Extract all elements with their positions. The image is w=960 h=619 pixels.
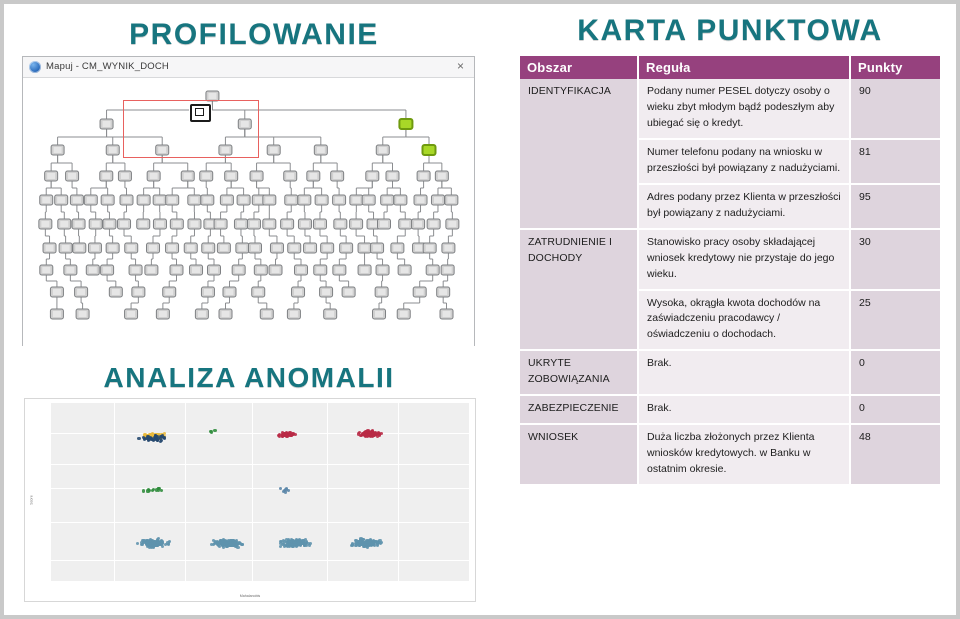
decision-tree-canvas[interactable] bbox=[23, 78, 474, 346]
scatter-point bbox=[288, 543, 291, 546]
tree-node[interactable] bbox=[334, 219, 347, 229]
tree-node[interactable] bbox=[288, 243, 301, 253]
cell-rule: Adres podany przez Klienta w przeszłości… bbox=[638, 184, 850, 229]
scatter-point bbox=[287, 489, 290, 492]
tree-node[interactable] bbox=[100, 171, 113, 181]
tree-node[interactable] bbox=[362, 195, 375, 205]
tree-node[interactable] bbox=[166, 195, 179, 205]
scatter-point bbox=[369, 539, 372, 542]
tree-node[interactable] bbox=[281, 219, 294, 229]
cell-rule: Stanowisko pracy osoby składającej wnios… bbox=[638, 229, 850, 290]
tree-node[interactable] bbox=[340, 243, 353, 253]
tree-node[interactable] bbox=[298, 219, 311, 229]
tree-node[interactable] bbox=[399, 219, 412, 229]
tree-node[interactable] bbox=[84, 195, 97, 205]
tree-node[interactable] bbox=[125, 243, 138, 253]
tree-node[interactable] bbox=[219, 309, 232, 319]
tree-node[interactable] bbox=[313, 219, 326, 229]
tree-node[interactable] bbox=[163, 287, 176, 297]
tree-node[interactable] bbox=[101, 265, 114, 275]
tree-node[interactable] bbox=[437, 287, 450, 297]
scatter-point bbox=[305, 544, 308, 547]
scatter-point bbox=[294, 433, 297, 436]
cell-rule: Numer telefonu podany na wniosku w przes… bbox=[638, 139, 850, 184]
tree-node[interactable] bbox=[106, 145, 119, 155]
scatter-point bbox=[209, 430, 212, 433]
scatter-point bbox=[147, 439, 150, 442]
page-title-anomaly: ANALIZA ANOMALII bbox=[4, 362, 494, 394]
tree-node[interactable] bbox=[109, 287, 122, 297]
tree-node[interactable] bbox=[147, 171, 160, 181]
window-titlebar: Mapuj - CM_WYNIK_DOCH × bbox=[23, 57, 474, 78]
tree-node[interactable] bbox=[66, 171, 79, 181]
tree-node[interactable] bbox=[398, 265, 411, 275]
tree-node[interactable] bbox=[202, 243, 215, 253]
tree-node[interactable] bbox=[376, 145, 389, 155]
tree-node[interactable] bbox=[248, 243, 261, 253]
tree-node[interactable] bbox=[342, 287, 355, 297]
cell-points: 48 bbox=[850, 424, 940, 485]
gridline-vertical bbox=[398, 403, 399, 581]
tree-node[interactable] bbox=[137, 219, 150, 229]
y-axis-label: Score bbox=[30, 495, 34, 504]
tree-node[interactable] bbox=[207, 265, 220, 275]
tree-node[interactable] bbox=[58, 219, 71, 229]
tree-node[interactable] bbox=[220, 195, 233, 205]
tree-node[interactable] bbox=[333, 265, 346, 275]
table-row: ZABEZPIECZENIEBrak.0 bbox=[520, 395, 940, 424]
scorecard-table: Obszar Reguła Punkty IDENTYFIKACJAPodany… bbox=[520, 56, 940, 486]
scatter-point bbox=[218, 545, 221, 548]
tree-node[interactable] bbox=[181, 171, 194, 181]
tree-node[interactable] bbox=[190, 265, 203, 275]
table-row: UKRYTE ZOBOWIĄZANIABrak.0 bbox=[520, 350, 940, 395]
tree-node[interactable] bbox=[145, 265, 158, 275]
scatter-point bbox=[167, 543, 170, 546]
tree-node[interactable] bbox=[307, 171, 320, 181]
tree-node[interactable] bbox=[391, 243, 404, 253]
tree-node[interactable] bbox=[106, 243, 119, 253]
tree-node[interactable] bbox=[39, 219, 52, 229]
slide-canvas: PROFILOWANIE ANALIZA ANOMALII KARTA PUNK… bbox=[4, 4, 956, 615]
anomaly-scatter-plot: Mahalanobis Score bbox=[24, 398, 476, 602]
tree-node[interactable] bbox=[132, 287, 145, 297]
scatter-point bbox=[156, 544, 159, 547]
tree-node[interactable] bbox=[314, 265, 327, 275]
profiling-window: Mapuj - CM_WYNIK_DOCH × bbox=[22, 56, 475, 346]
tree-node[interactable] bbox=[412, 219, 425, 229]
tree-node[interactable] bbox=[236, 243, 249, 253]
plot-area bbox=[51, 403, 469, 581]
tree-node[interactable] bbox=[435, 171, 448, 181]
scatter-point bbox=[297, 542, 300, 545]
tree-node[interactable] bbox=[88, 243, 101, 253]
tree-node[interactable] bbox=[446, 219, 459, 229]
tree-node[interactable] bbox=[101, 195, 114, 205]
tree-node[interactable] bbox=[269, 265, 282, 275]
column-header-area: Obszar bbox=[520, 56, 638, 79]
gridline-vertical bbox=[327, 403, 328, 581]
tree-node[interactable] bbox=[324, 309, 337, 319]
tree-node[interactable] bbox=[50, 287, 63, 297]
tree-node[interactable] bbox=[118, 219, 131, 229]
gridline-vertical bbox=[185, 403, 186, 581]
cell-points: 90 bbox=[850, 79, 940, 139]
tree-node[interactable] bbox=[237, 195, 250, 205]
tree-node[interactable] bbox=[254, 265, 267, 275]
scatter-point bbox=[160, 489, 163, 492]
tree-node[interactable] bbox=[156, 309, 169, 319]
tree-node[interactable] bbox=[100, 119, 113, 129]
tree-node[interactable] bbox=[314, 145, 327, 155]
scatter-point bbox=[136, 542, 139, 545]
cell-rule: Duża liczba złożonych przez Klienta wnio… bbox=[638, 424, 850, 485]
tree-node[interactable] bbox=[386, 171, 399, 181]
scatter-point bbox=[220, 540, 223, 543]
tree-node[interactable] bbox=[55, 195, 68, 205]
scatter-point bbox=[160, 542, 163, 545]
tree-node[interactable] bbox=[223, 287, 236, 297]
tree-node[interactable] bbox=[423, 243, 436, 253]
tree-node[interactable] bbox=[431, 195, 444, 205]
cell-points: 0 bbox=[850, 395, 940, 424]
tree-node[interactable] bbox=[51, 145, 64, 155]
tree-node[interactable] bbox=[40, 265, 53, 275]
tree-node[interactable] bbox=[59, 243, 72, 253]
scatter-point bbox=[380, 432, 383, 435]
tree-node[interactable] bbox=[445, 195, 458, 205]
tree-node[interactable] bbox=[118, 171, 131, 181]
scatter-point bbox=[164, 543, 167, 546]
tree-node[interactable] bbox=[422, 145, 435, 155]
gridline-horizontal bbox=[51, 522, 469, 523]
tree-node[interactable] bbox=[358, 243, 371, 253]
column-header-rule: Reguła bbox=[638, 56, 850, 79]
tree-node[interactable] bbox=[376, 265, 389, 275]
table-row: ZATRUDNIENIE I DOCHODYStanowisko pracy o… bbox=[520, 229, 940, 290]
cell-points: 95 bbox=[850, 184, 940, 229]
tree-node[interactable] bbox=[381, 195, 394, 205]
tree-node[interactable] bbox=[234, 219, 247, 229]
tree-node[interactable] bbox=[250, 171, 263, 181]
table-row: WNIOSEKDuża liczba złożonych przez Klien… bbox=[520, 424, 940, 485]
tree-node[interactable] bbox=[170, 219, 183, 229]
table-row: IDENTYFIKACJAPodany numer PESEL dotyczy … bbox=[520, 79, 940, 139]
tree-node[interactable] bbox=[442, 243, 455, 253]
tree-node[interactable] bbox=[331, 171, 344, 181]
gridline-horizontal bbox=[51, 433, 469, 434]
tree-node[interactable] bbox=[304, 243, 317, 253]
tree-node[interactable] bbox=[76, 309, 89, 319]
cell-rule: Brak. bbox=[638, 350, 850, 395]
tree-node[interactable] bbox=[120, 195, 133, 205]
tree-node[interactable] bbox=[129, 265, 142, 275]
tree-node[interactable] bbox=[137, 195, 150, 205]
tree-node[interactable] bbox=[358, 265, 371, 275]
scatter-point bbox=[156, 541, 159, 544]
scatter-point bbox=[236, 546, 239, 549]
tree-node[interactable] bbox=[321, 243, 334, 253]
tree-node[interactable] bbox=[295, 265, 308, 275]
close-icon[interactable]: × bbox=[454, 60, 467, 73]
tree-node[interactable] bbox=[75, 287, 88, 297]
scatter-point bbox=[143, 438, 146, 441]
tree-node[interactable] bbox=[350, 195, 363, 205]
tree-node[interactable] bbox=[440, 309, 453, 319]
tree-node[interactable] bbox=[371, 243, 384, 253]
scatter-point bbox=[308, 544, 311, 547]
tree-node[interactable] bbox=[217, 243, 230, 253]
scatter-point bbox=[213, 429, 216, 432]
scatter-point bbox=[376, 541, 379, 544]
tree-node[interactable] bbox=[184, 243, 197, 253]
tree-node[interactable] bbox=[225, 171, 238, 181]
tree-node[interactable] bbox=[125, 309, 138, 319]
tree-node[interactable] bbox=[45, 171, 58, 181]
tree-node[interactable] bbox=[394, 195, 407, 205]
tree-node[interactable] bbox=[399, 119, 412, 129]
tree-node[interactable] bbox=[170, 265, 183, 275]
tree-node[interactable] bbox=[103, 219, 116, 229]
tree-node[interactable] bbox=[252, 287, 265, 297]
column-header-points: Punkty bbox=[850, 56, 940, 79]
cell-area: UKRYTE ZOBOWIĄZANIA bbox=[520, 350, 638, 395]
gridline-horizontal bbox=[51, 560, 469, 561]
cell-area: WNIOSEK bbox=[520, 424, 638, 485]
tree-node[interactable] bbox=[413, 287, 426, 297]
tree-node[interactable] bbox=[427, 219, 440, 229]
cell-points: 81 bbox=[850, 139, 940, 184]
gridline-vertical bbox=[252, 403, 253, 581]
tree-node[interactable] bbox=[89, 219, 102, 229]
tree-node[interactable] bbox=[373, 309, 386, 319]
tree-node[interactable] bbox=[43, 243, 56, 253]
tree-node[interactable] bbox=[333, 195, 346, 205]
scatter-point bbox=[210, 543, 213, 546]
tree-node[interactable] bbox=[350, 219, 363, 229]
scatter-point bbox=[279, 545, 282, 548]
tree-node[interactable] bbox=[72, 219, 85, 229]
tree-node[interactable] bbox=[285, 195, 298, 205]
tree-node[interactable] bbox=[200, 171, 213, 181]
tree-node[interactable] bbox=[86, 265, 99, 275]
tree-node[interactable] bbox=[417, 171, 430, 181]
tree-node[interactable] bbox=[397, 309, 410, 319]
scatter-point bbox=[142, 489, 145, 492]
tree-node[interactable] bbox=[366, 171, 379, 181]
tree-node[interactable] bbox=[247, 219, 260, 229]
tree-node[interactable] bbox=[375, 287, 388, 297]
scatter-point bbox=[137, 437, 140, 440]
tree-node[interactable] bbox=[153, 195, 166, 205]
x-axis-label: Mahalanobis bbox=[240, 594, 260, 598]
tree-node[interactable] bbox=[40, 195, 53, 205]
tree-node[interactable] bbox=[441, 265, 454, 275]
tree-node[interactable] bbox=[188, 195, 201, 205]
tree-node[interactable] bbox=[270, 243, 283, 253]
tree-node[interactable] bbox=[263, 219, 276, 229]
table-header-row: Obszar Reguła Punkty bbox=[520, 56, 940, 79]
chip-icon bbox=[190, 104, 211, 122]
scatter-point bbox=[229, 543, 232, 546]
cell-area: IDENTYFIKACJA bbox=[520, 79, 638, 229]
tree-node[interactable] bbox=[263, 195, 276, 205]
tree-node[interactable] bbox=[201, 287, 214, 297]
tree-node[interactable] bbox=[147, 243, 160, 253]
scatter-point bbox=[283, 540, 286, 543]
globe-icon bbox=[29, 61, 41, 73]
table-body: IDENTYFIKACJAPodany numer PESEL dotyczy … bbox=[520, 79, 940, 485]
cell-area: ZABEZPIECZENIE bbox=[520, 395, 638, 424]
scatter-point bbox=[283, 545, 286, 548]
tree-node[interactable] bbox=[188, 219, 201, 229]
cell-points: 0 bbox=[850, 350, 940, 395]
cell-rule: Wysoka, okrągła kwota dochodów na zaświa… bbox=[638, 290, 850, 351]
tree-node[interactable] bbox=[260, 309, 273, 319]
tree-node[interactable] bbox=[232, 265, 245, 275]
cell-points: 30 bbox=[850, 229, 940, 290]
tree-node[interactable] bbox=[320, 287, 333, 297]
gridline-horizontal bbox=[51, 464, 469, 465]
tree-node[interactable] bbox=[298, 195, 311, 205]
tree-node[interactable] bbox=[73, 243, 86, 253]
tree-node[interactable] bbox=[70, 195, 83, 205]
tree-node[interactable] bbox=[378, 219, 391, 229]
cell-points: 25 bbox=[850, 290, 940, 351]
tree-node[interactable] bbox=[64, 265, 77, 275]
tree-node[interactable] bbox=[284, 171, 297, 181]
gridline-vertical bbox=[114, 403, 115, 581]
tree-node[interactable] bbox=[50, 309, 63, 319]
tree-node[interactable] bbox=[426, 265, 439, 275]
scatter-point bbox=[279, 487, 282, 490]
scatter-point bbox=[361, 543, 364, 546]
cell-area: ZATRUDNIENIE I DOCHODY bbox=[520, 229, 638, 351]
tree-node[interactable] bbox=[414, 195, 427, 205]
page-title-profiling: PROFILOWANIE bbox=[4, 18, 504, 52]
scatter-point bbox=[235, 539, 238, 542]
tree-node[interactable] bbox=[195, 309, 208, 319]
tree-node[interactable] bbox=[201, 195, 214, 205]
tree-node[interactable] bbox=[292, 287, 305, 297]
gridline-horizontal bbox=[51, 488, 469, 489]
cell-rule: Podany numer PESEL dotyczy osoby o wieku… bbox=[638, 79, 850, 139]
tree-node[interactable] bbox=[214, 219, 227, 229]
scatter-point bbox=[146, 489, 149, 492]
tree-node[interactable] bbox=[153, 219, 166, 229]
tree-node[interactable] bbox=[166, 243, 179, 253]
scatter-point bbox=[163, 437, 166, 440]
window-title: Mapuj - CM_WYNIK_DOCH bbox=[46, 61, 169, 72]
page-title-scorecard: KARTA PUNKTOWA bbox=[504, 14, 956, 48]
cell-rule: Brak. bbox=[638, 395, 850, 424]
tree-node[interactable] bbox=[315, 195, 328, 205]
tree-node[interactable] bbox=[267, 145, 280, 155]
scatter-point bbox=[282, 490, 285, 493]
tree-node[interactable] bbox=[287, 309, 300, 319]
